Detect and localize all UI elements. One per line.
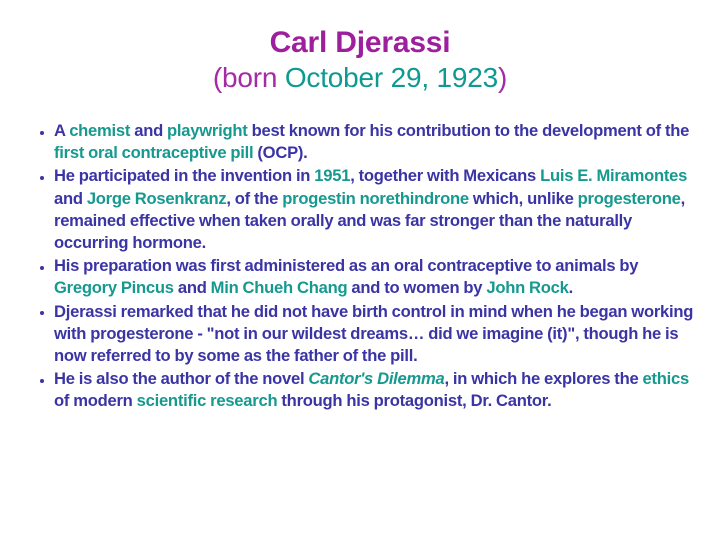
text-segment: and to women by [347, 278, 486, 297]
text-segment: A [54, 121, 69, 140]
list-item-text: A chemist and playwright best known for … [54, 120, 696, 164]
list-item: He participated in the invention in 1951… [30, 165, 696, 254]
text-segment: Luis E. Miramontes [540, 166, 687, 185]
list-item: A chemist and playwright best known for … [30, 120, 696, 164]
text-segment: and [130, 121, 167, 140]
text-segment: Djerassi remarked that he did not have b… [54, 302, 693, 365]
list-item-text: His preparation was first administered a… [54, 255, 696, 299]
text-segment: and [54, 189, 87, 208]
subtitle-birth-date: October 29, 1923 [285, 62, 498, 93]
text-segment: progestin norethindrone [282, 189, 469, 208]
text-segment: 1951 [314, 166, 350, 185]
page-title: Carl Djerassi [0, 26, 720, 60]
text-segment: Gregory Pincus [54, 278, 174, 297]
text-segment: , in which he explores the [445, 369, 643, 388]
list-item-text: Djerassi remarked that he did not have b… [54, 301, 696, 368]
bullet-point-icon [30, 165, 54, 190]
list-item-text: He participated in the invention in 1951… [54, 165, 696, 254]
text-segment: , of the [226, 189, 282, 208]
text-segment: best known for his contribution to the d… [248, 121, 690, 140]
subtitle-open-paren: (born [213, 62, 285, 93]
bullet-list: A chemist and playwright best known for … [30, 120, 696, 414]
text-segment: which, unlike [469, 189, 578, 208]
bullet-point-icon [30, 255, 54, 280]
list-item: Djerassi remarked that he did not have b… [30, 301, 696, 368]
text-segment: John Rock [486, 278, 568, 297]
slide-title-block: Carl Djerassi (born October 29, 1923) [0, 26, 720, 93]
list-item: He is also the author of the novel Canto… [30, 368, 696, 412]
text-segment: His preparation was first administered a… [54, 256, 638, 275]
text-segment: He is also the author of the novel [54, 369, 308, 388]
text-segment: . [569, 278, 573, 297]
text-segment: Cantor's Dilemma [308, 369, 444, 388]
list-item-text: He is also the author of the novel Canto… [54, 368, 696, 412]
subtitle-close-paren: ) [498, 62, 507, 93]
text-segment: ethics [643, 369, 689, 388]
bullet-point-icon [30, 301, 54, 326]
text-segment: progesterone [578, 189, 681, 208]
text-segment: , together with Mexicans [350, 166, 540, 185]
text-segment: scientific research [137, 391, 278, 410]
text-segment: through his protagonist, Dr. Cantor. [277, 391, 551, 410]
text-segment: and [174, 278, 211, 297]
slide-subtitle: (born October 29, 1923) [0, 62, 720, 93]
text-segment: chemist [69, 121, 130, 140]
bullet-point-icon [30, 368, 54, 393]
list-item: His preparation was first administered a… [30, 255, 696, 299]
presentation-slide: Carl Djerassi (born October 29, 1923) A … [0, 0, 720, 540]
text-segment: playwright [167, 121, 247, 140]
text-segment: He participated in the invention in [54, 166, 314, 185]
text-segment: first oral contraceptive pill [54, 143, 253, 162]
text-segment: (OCP). [253, 143, 307, 162]
bullet-point-icon [30, 120, 54, 145]
text-segment: Jorge Rosenkranz [87, 189, 227, 208]
text-segment: Min Chueh Chang [211, 278, 348, 297]
text-segment: of modern [54, 391, 137, 410]
